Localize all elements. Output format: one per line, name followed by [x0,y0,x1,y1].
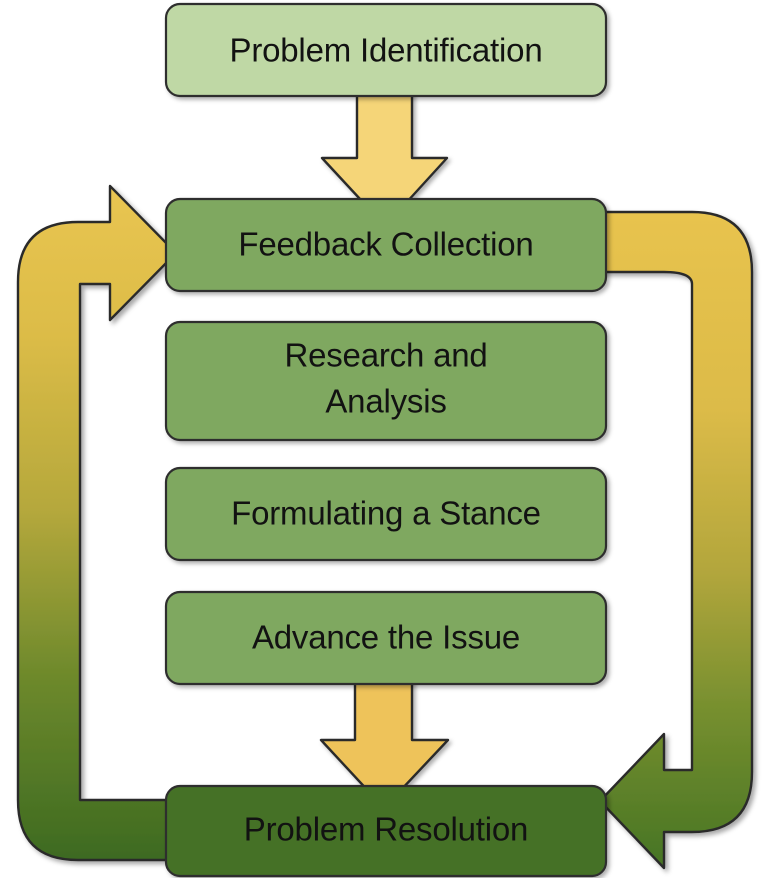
connector-resolution-to-feedback-left [18,186,186,860]
node-research-and-analysis-label-line1: Research and [284,337,487,374]
node-problem-resolution-label: Problem Resolution [244,811,528,848]
connector-feedback-to-resolution-right [596,212,752,868]
node-advance-the-issue-label: Advance the Issue [252,619,520,656]
node-problem-identification-label: Problem Identification [230,32,543,69]
node-research-and-analysis-label-line2: Analysis [325,383,446,420]
node-formulating-a-stance-label: Formulating a Stance [231,495,541,532]
flowchart-svg: Problem Identification Feedback Collecti… [0,0,774,878]
node-feedback-collection-label: Feedback Collection [238,226,533,263]
flowchart-canvas: Problem Identification Feedback Collecti… [0,0,774,878]
